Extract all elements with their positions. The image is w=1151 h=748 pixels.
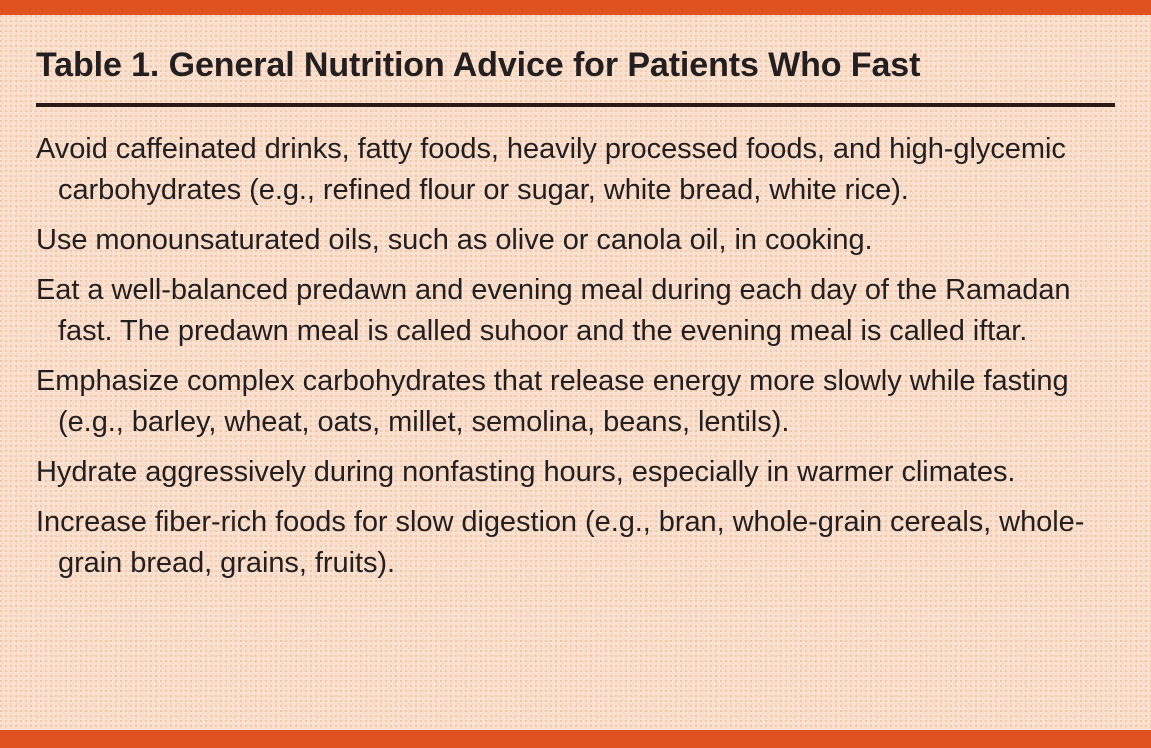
advice-list-item: Hydrate aggressively during nonfasting h… xyxy=(36,452,1115,493)
nutrition-advice-table: Table 1. General Nutrition Advice for Pa… xyxy=(0,0,1151,748)
advice-list-item: Emphasize complex carbohydrates that rel… xyxy=(36,361,1115,443)
top-accent-bar xyxy=(0,0,1151,15)
advice-list: Avoid caffeinated drinks, fatty foods, h… xyxy=(36,107,1115,584)
advice-list-item: Increase fiber-rich foods for slow diges… xyxy=(36,502,1115,584)
advice-list-item: Eat a well-balanced predawn and evening … xyxy=(36,270,1115,352)
table-content: Table 1. General Nutrition Advice for Pa… xyxy=(0,15,1151,730)
table-title: Table 1. General Nutrition Advice for Pa… xyxy=(36,15,1115,85)
advice-list-item: Avoid caffeinated drinks, fatty foods, h… xyxy=(36,129,1115,211)
advice-list-item: Use monounsaturated oils, such as olive … xyxy=(36,220,1115,261)
bottom-accent-bar xyxy=(0,730,1151,748)
